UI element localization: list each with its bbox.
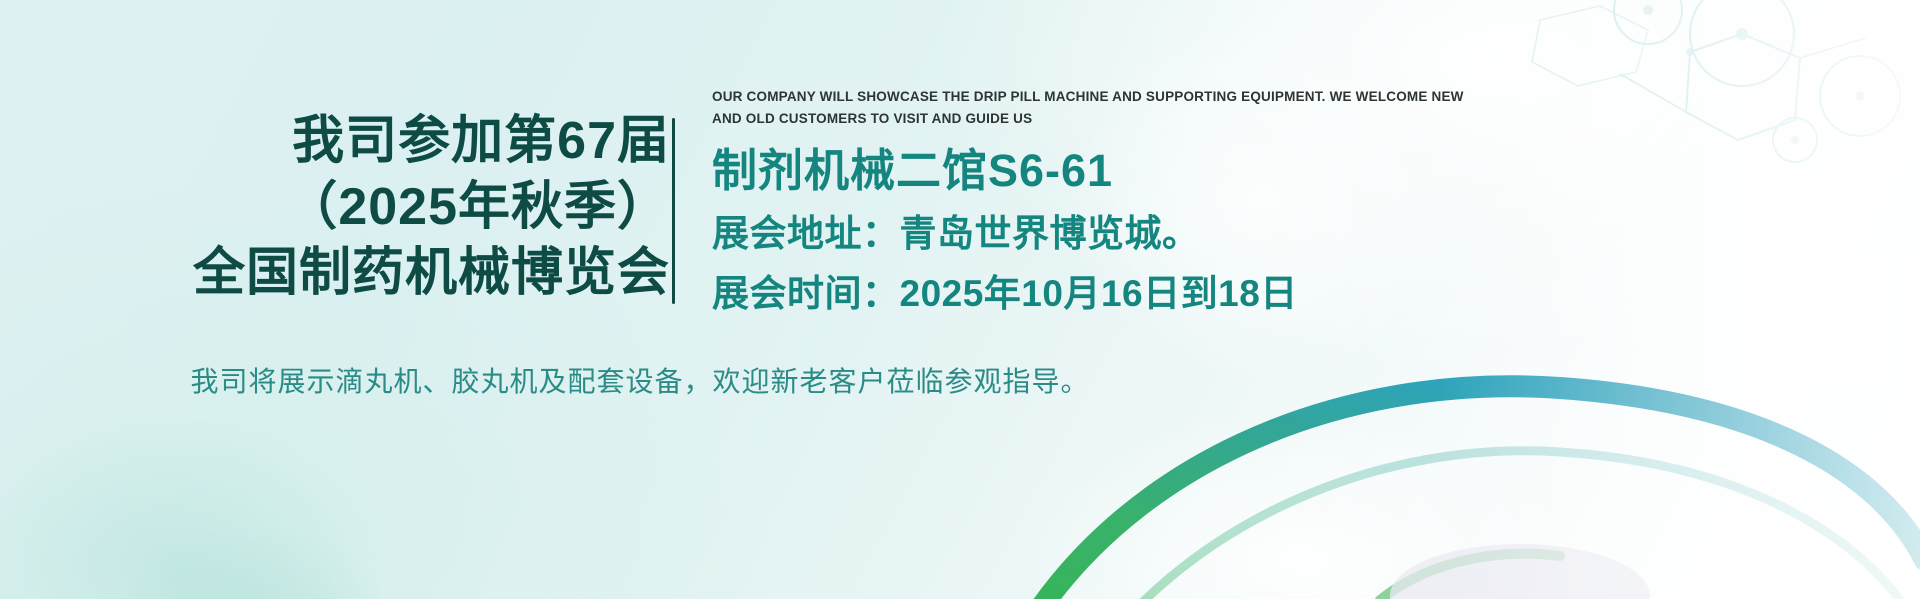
headline-line-2: （2025年秋季） [150,174,670,240]
english-description: OUR COMPANY WILL SHOWCASE THE DRIP PILL … [712,86,1472,130]
vertical-divider [672,118,675,304]
headline-line-3: 全国制药机械博览会 [150,240,670,306]
booth-location: 制剂机械二馆S6-61 [712,144,1482,198]
details-column: OUR COMPANY WILL SHOWCASE THE DRIP PILL … [712,86,1482,318]
caption: 我司将展示滴丸机、胶丸机及配套设备，欢迎新老客户莅临参观指导。 [180,362,1100,402]
event-date: 展会时间：2025年10月16日到18日 [712,270,1482,318]
headline-line-1: 我司参加第67届 [150,108,670,174]
english-description-line-2: VISIT AND GUIDE US [893,111,1032,126]
exhibition-banner: 我司参加第67届 （2025年秋季） 全国制药机械博览会 OUR COMPANY… [0,0,1920,599]
english-description-line-1: OUR COMPANY WILL SHOWCASE THE DRIP PILL … [712,89,1464,126]
venue-address: 展会地址：青岛世界博览城。 [712,210,1482,258]
headline: 我司参加第67届 （2025年秋季） 全国制药机械博览会 [150,108,670,306]
